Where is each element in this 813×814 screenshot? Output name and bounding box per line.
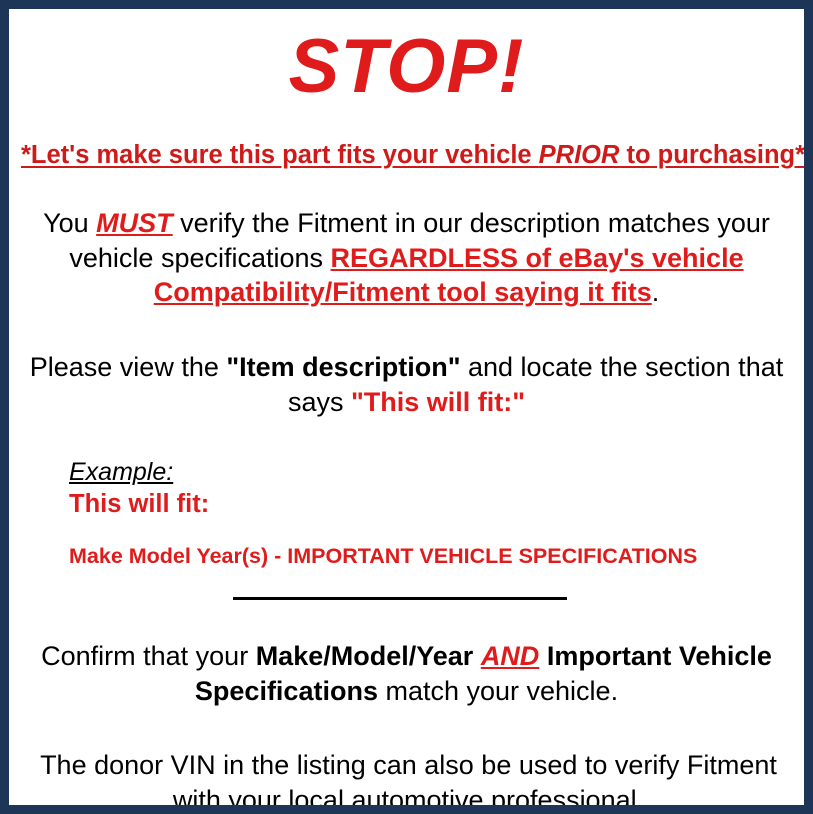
must-text-3: . — [652, 277, 660, 307]
example-block: Example: This will fit: Make Model Year(… — [21, 459, 792, 570]
this-will-fit-quote: "This will fit:" — [351, 387, 525, 417]
notice-content: STOP! *Let's make sure this part fits yo… — [9, 21, 804, 814]
horizontal-divider — [233, 597, 567, 600]
example-spec-line: Make Model Year(s) - IMPORTANT VEHICLE S… — [69, 544, 792, 570]
example-label-row: Example: — [69, 459, 792, 487]
fitment-notice-card: STOP! *Let's make sure this part fits yo… — [0, 0, 813, 814]
confirm-text-2: match your vehicle. — [378, 676, 618, 706]
must-text-1: You — [43, 208, 96, 238]
example-fit-heading: This will fit: — [69, 489, 792, 521]
must-verify-paragraph: You MUST verify the Fitment in our descr… — [27, 206, 787, 310]
confirm-space-2 — [539, 641, 547, 671]
divider-row — [21, 592, 792, 606]
subtitle-text-before: *Let's make sure this part fits your veh… — [21, 141, 539, 169]
confirm-text-1: Confirm that your — [41, 641, 256, 671]
make-model-year-label: Make/Model/Year — [256, 641, 474, 671]
desc-text-1: Please view the — [30, 352, 227, 382]
must-emphasis: MUST — [96, 208, 173, 238]
donor-vin-paragraph: The donor VIN in the listing can also be… — [21, 748, 796, 814]
item-description-paragraph: Please view the "Item description" and l… — [22, 350, 792, 419]
example-label: Example: — [69, 459, 173, 487]
and-emphasis: AND — [481, 641, 540, 671]
stop-heading: STOP! — [21, 21, 792, 105]
subtitle-emphasis-prior: PRIOR — [539, 141, 620, 169]
subtitle-banner: *Let's make sure this part fits your veh… — [21, 141, 792, 170]
confirm-space-1 — [473, 641, 481, 671]
confirm-paragraph: Confirm that your Make/Model/Year AND Im… — [27, 639, 787, 708]
subtitle-text-after: to purchasing* — [619, 141, 805, 169]
item-description-label: "Item description" — [226, 352, 460, 382]
